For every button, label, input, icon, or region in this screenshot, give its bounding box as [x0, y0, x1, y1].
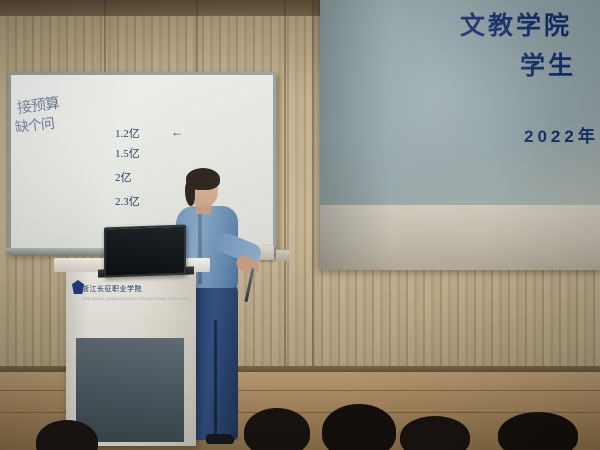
- audience-head: [322, 404, 396, 450]
- slide-line-3: 2022年: [524, 122, 599, 147]
- slide-line-2: 学生: [520, 46, 576, 82]
- slide-line-1: 文教学院: [460, 6, 572, 42]
- audience-head: [244, 408, 310, 450]
- speaker-shoe: [206, 434, 234, 444]
- speaker-shirt-fold: [198, 210, 202, 284]
- whiteboard-item-4: 2.3亿: [115, 193, 140, 209]
- small-box-object: [276, 250, 290, 261]
- whiteboard-item-3: 2亿: [115, 169, 132, 185]
- audience-head: [498, 412, 578, 450]
- whiteboard-handwriting-line-2: 缺个问: [14, 113, 55, 137]
- podium-institution-name-latin: ZHEJIANG CHANGZHENG VOCATIONAL COLLEGE: [82, 296, 180, 301]
- whiteboard-arrow: ←: [171, 125, 183, 139]
- podium: 浙江长征职业学院 ZHEJIANG CHANGZHENG VOCATIONAL …: [66, 268, 196, 446]
- speaker-leg-seam: [214, 320, 217, 440]
- laptop-screen: [104, 225, 186, 278]
- screen-lower-area: [320, 205, 600, 270]
- whiteboard-item-2: 1.5亿: [115, 145, 140, 161]
- projection-screen: 文教学院 学生 2022年: [320, 0, 600, 270]
- audience-head: [400, 416, 470, 450]
- podium-front-panel: [76, 338, 184, 442]
- speaker-hair-back: [185, 180, 195, 206]
- photograph-scene: 文教学院 学生 2022年 接预算 缺个问 1.2亿 1.5亿 2亿 2.3亿 …: [0, 0, 600, 450]
- whiteboard-item-1: 1.2亿: [115, 125, 140, 141]
